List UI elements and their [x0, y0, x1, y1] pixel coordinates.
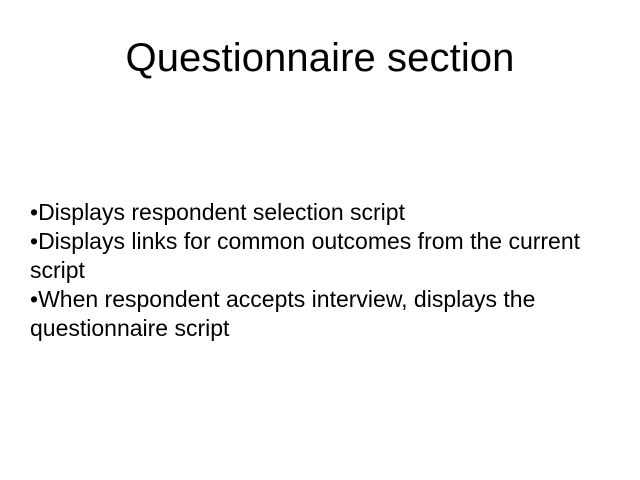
presentation-slide: Questionnaire section •Displays responde… — [0, 0, 640, 480]
slide-body-text: •Displays respondent selection script •D… — [30, 198, 610, 343]
page-title: Questionnaire section — [0, 34, 640, 82]
list-item-label: Displays respondent selection script — [38, 199, 405, 225]
bullet-point-icon: • — [30, 228, 38, 254]
bullet-list: •Displays respondent selection script •D… — [30, 198, 610, 343]
list-item: •When respondent accepts interview, disp… — [30, 285, 610, 343]
list-item-label: Displays links for common outcomes from … — [30, 228, 580, 283]
list-item-label: When respondent accepts interview, displ… — [30, 286, 535, 341]
list-item: •Displays respondent selection script — [30, 198, 610, 227]
bullet-point-icon: • — [30, 286, 38, 312]
list-item: •Displays links for common outcomes from… — [30, 227, 610, 285]
bullet-point-icon: • — [30, 199, 38, 225]
